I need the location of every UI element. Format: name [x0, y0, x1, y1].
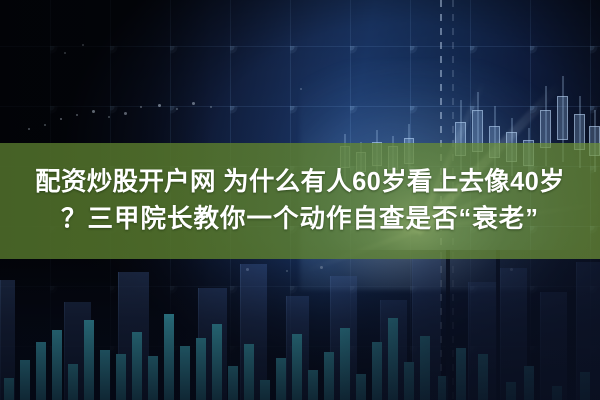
headline-line-1: 配资炒股开户网 为什么有人60岁看上去像40岁 — [35, 164, 565, 201]
headline-line-2: ？三甲院长教你一个动作自查是否“衰老” — [61, 201, 539, 238]
thumbnail-canvas: 配资炒股开户网 为什么有人60岁看上去像40岁 ？三甲院长教你一个动作自查是否“… — [0, 0, 600, 400]
headline-band: 配资炒股开户网 为什么有人60岁看上去像40岁 ？三甲院长教你一个动作自查是否“… — [0, 143, 600, 259]
background-dark-bottom — [0, 240, 600, 400]
